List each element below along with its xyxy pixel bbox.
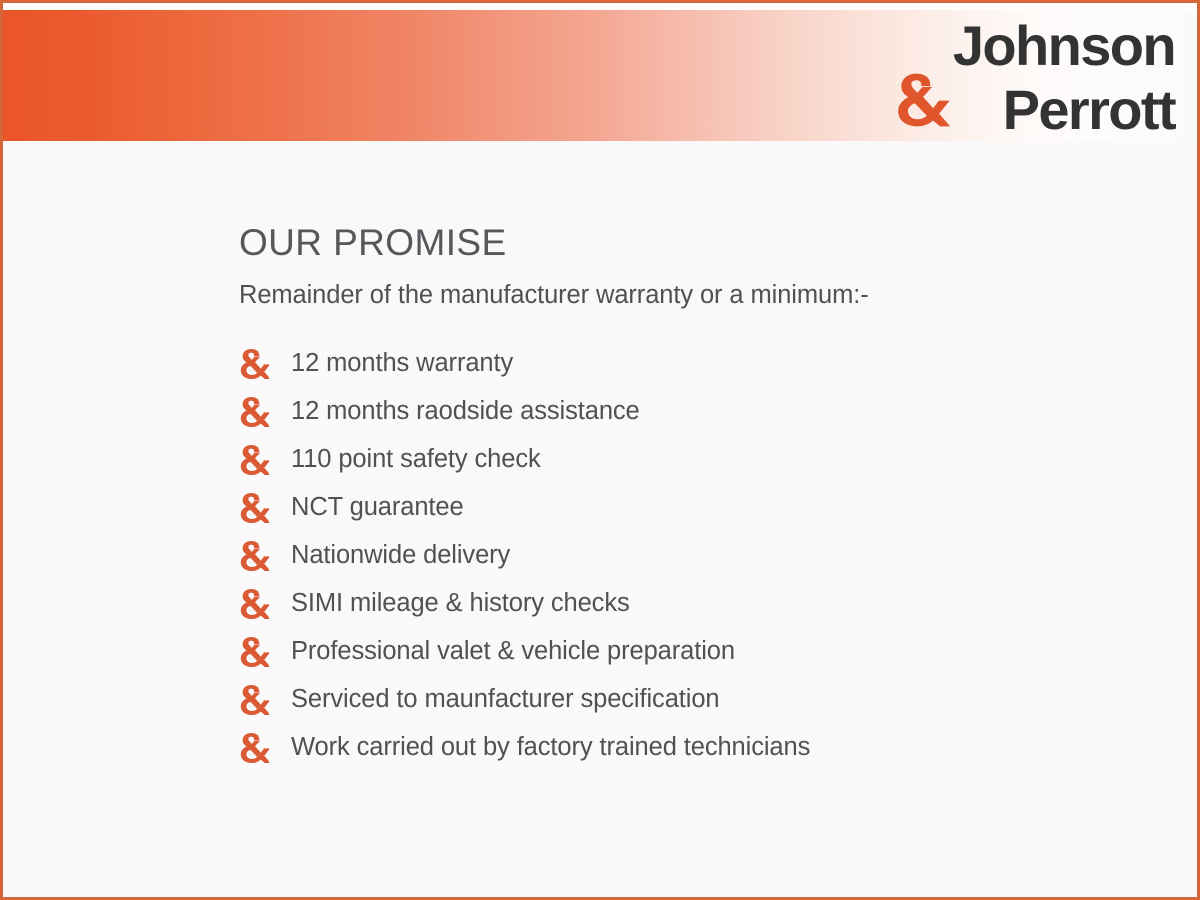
ampersand-bullet-icon <box>239 491 269 523</box>
svg-text:Perrott: Perrott <box>1003 78 1176 135</box>
list-item-label: 110 point safety check <box>291 447 541 473</box>
top-white-strip <box>3 3 1197 10</box>
list-item: Work carried out by factory trained tech… <box>239 723 1197 771</box>
list-item-label: Work carried out by factory trained tech… <box>291 735 810 761</box>
promise-subtitle: Remainder of the manufacturer warranty o… <box>239 280 1197 311</box>
svg-text:Johnson: Johnson <box>953 14 1175 77</box>
johnson-and-perrott-logo: Johnson Perrott <box>887 13 1177 135</box>
list-item: 12 months warranty <box>239 339 1197 387</box>
list-item: 12 months raodside assistance <box>239 387 1197 435</box>
list-item: Professional valet & vehicle preparation <box>239 627 1197 675</box>
list-item-label: Nationwide delivery <box>291 543 510 569</box>
list-item-label: Professional valet & vehicle preparation <box>291 639 735 665</box>
list-item: Nationwide delivery <box>239 531 1197 579</box>
ampersand-bullet-icon <box>239 587 269 619</box>
list-item: SIMI mileage & history checks <box>239 579 1197 627</box>
page-title: OUR PROMISE <box>239 223 1197 264</box>
ampersand-bullet-icon <box>239 635 269 667</box>
promise-page: Johnson Perrott OUR PROMISE Remainder of… <box>0 0 1200 900</box>
ampersand-bullet-icon <box>239 731 269 763</box>
ampersand-bullet-icon <box>239 683 269 715</box>
promise-list: 12 months warranty 12 months raodside as… <box>239 339 1197 771</box>
list-item: Serviced to maunfacturer specification <box>239 675 1197 723</box>
promise-content: OUR PROMISE Remainder of the manufacture… <box>3 141 1197 897</box>
ampersand-bullet-icon <box>239 539 269 571</box>
list-item-label: NCT guarantee <box>291 495 464 521</box>
list-item-label: 12 months raodside assistance <box>291 399 640 425</box>
list-item: 110 point safety check <box>239 435 1197 483</box>
list-item-label: 12 months warranty <box>291 351 513 377</box>
list-item-label: Serviced to maunfacturer specification <box>291 687 720 713</box>
list-item-label: SIMI mileage & history checks <box>291 591 630 617</box>
ampersand-bullet-icon <box>239 347 269 379</box>
ampersand-bullet-icon <box>239 395 269 427</box>
list-item: NCT guarantee <box>239 483 1197 531</box>
ampersand-bullet-icon <box>239 443 269 475</box>
